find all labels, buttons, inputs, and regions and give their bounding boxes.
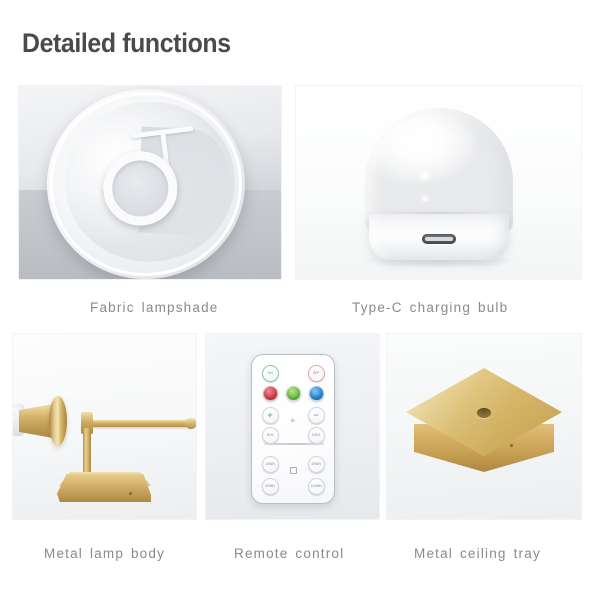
remote-button-timer-30min[interactable]: 30MIN: [308, 456, 325, 473]
lamp-horizontal-rod: [91, 420, 193, 427]
usb-type-c-port-icon: [422, 234, 456, 244]
lamp-square-base: [57, 474, 151, 502]
lamp-rod-tip: [185, 418, 197, 429]
remote-body: ON OFF + − ☀ 50% 100% 10MIN 30MIN 60MIN …: [251, 354, 335, 504]
remote-button-color-cool-white[interactable]: [309, 386, 324, 401]
remote-divider: [264, 443, 324, 445]
timer-icon: [290, 467, 297, 474]
remote-button-timer-60min[interactable]: 60MIN: [262, 478, 279, 495]
product-image-remote-control[interactable]: ON OFF + − ☀ 50% 100% 10MIN 30MIN 60MIN …: [205, 333, 380, 520]
caption-type-c-charging-bulb: Type-C charging bulb: [352, 300, 508, 315]
lamp-base-screw: [129, 492, 132, 495]
metal-lamp-body-illustration: [13, 334, 196, 519]
product-image-metal-lamp-body[interactable]: [12, 333, 197, 520]
remote-button-timer-10min[interactable]: 10MIN: [262, 456, 279, 473]
product-image-metal-ceiling-tray[interactable]: [386, 333, 582, 520]
remote-control-illustration: ON OFF + − ☀ 50% 100% 10MIN 30MIN 60MIN …: [206, 334, 379, 519]
remote-button-level-100[interactable]: 100%: [308, 427, 325, 444]
bulb-assembly: [365, 108, 513, 256]
tray-center-hole: [477, 408, 491, 418]
caption-metal-ceiling-tray: Metal ceiling tray: [414, 546, 541, 561]
bulb-seam-line: [369, 212, 509, 214]
brightness-sun-icon: ☀: [290, 418, 296, 425]
product-image-fabric-lampshade[interactable]: [18, 85, 282, 280]
remote-button-color-warm-white[interactable]: [263, 386, 278, 401]
bulb-highlight: [419, 194, 431, 203]
lamp-socket-disc: [49, 396, 67, 446]
tray-side-screw: [510, 444, 513, 447]
bulb-highlight: [417, 170, 433, 182]
caption-metal-lamp-body: Metal lamp body: [44, 546, 165, 561]
page-title: Detailed functions: [22, 28, 231, 59]
caption-remote-control: Remote control: [234, 546, 344, 561]
usb-port-inner: [425, 237, 453, 241]
ceiling-tray-illustration: [387, 334, 581, 519]
remote-button-off[interactable]: OFF: [308, 365, 325, 382]
product-detail-page: Detailed functions Fabric lampshade: [0, 0, 600, 600]
remote-button-level-50[interactable]: 50%: [262, 427, 279, 444]
remote-button-brightness-down[interactable]: −: [308, 407, 325, 424]
product-image-type-c-charging-bulb[interactable]: [295, 85, 582, 280]
remote-button-on[interactable]: ON: [262, 365, 279, 382]
charging-bulb-illustration: [296, 86, 581, 279]
remote-button-timer-120min[interactable]: 120MIN: [308, 478, 325, 495]
fabric-lampshade-illustration: [19, 86, 281, 279]
tray-assembly: [406, 368, 562, 492]
caption-fabric-lampshade: Fabric lampshade: [90, 300, 219, 315]
remote-button-color-natural-white[interactable]: [286, 386, 301, 401]
remote-button-brightness-up[interactable]: +: [262, 407, 279, 424]
